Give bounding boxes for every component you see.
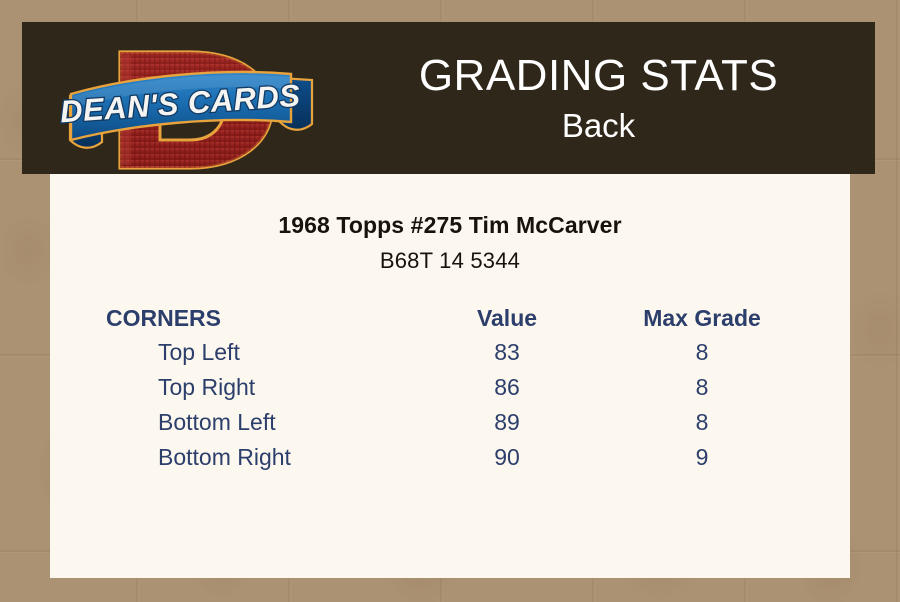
table-row: Bottom Left 89 8 [102,405,802,440]
row-value-top-left: 83 [412,335,602,370]
row-max-grade-bottom-left: 8 [602,405,802,440]
table-row: Top Left 83 8 [102,335,802,370]
row-label-top-right: Top Right [102,370,412,405]
row-value-bottom-right: 90 [412,440,602,475]
row-max-grade-bottom-right: 9 [602,440,802,475]
row-max-grade-top-left: 8 [602,335,802,370]
column-header-corners: CORNERS [102,301,412,335]
row-label-top-left: Top Left [102,335,412,370]
deans-cards-logo-svg: DEAN'S CARDS [44,28,316,174]
card-title: 1968 Topps #275 Tim McCarver [50,174,850,240]
column-header-value: Value [412,301,602,335]
table-row: Top Right 86 8 [102,370,802,405]
row-value-top-right: 86 [412,370,602,405]
header-title-block: GRADING STATS Back [322,22,875,174]
column-header-max-grade: Max Grade [602,301,802,335]
row-label-bottom-right: Bottom Right [102,440,412,475]
grading-stats-table: CORNERS Value Max Grade Top Left 83 8 To… [102,301,802,475]
deans-cards-logo: DEAN'S CARDS [44,28,316,174]
row-max-grade-top-right: 8 [602,370,802,405]
row-label-bottom-left: Bottom Left [102,405,412,440]
row-value-bottom-left: 89 [412,405,602,440]
card-code: B68T 14 5344 [50,240,850,275]
table-header-row: CORNERS Value Max Grade [102,301,802,335]
page-header: DEAN'S CARDS GRADING STATS Back [22,22,875,174]
page-subtitle: Back [562,106,635,146]
page-title: GRADING STATS [419,50,778,102]
table-row: Bottom Right 90 9 [102,440,802,475]
content-panel: 1968 Topps #275 Tim McCarver B68T 14 534… [50,174,850,578]
grading-stats-page: DEAN'S CARDS GRADING STATS Back 1968 Top… [0,0,900,602]
